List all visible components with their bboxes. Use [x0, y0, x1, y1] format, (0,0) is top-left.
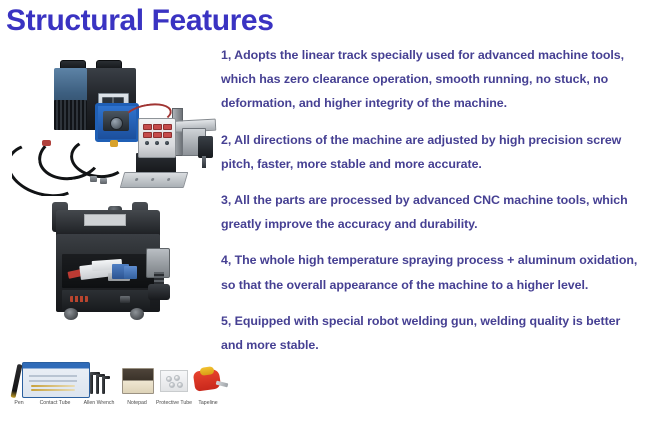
switch-1-icon	[145, 141, 149, 145]
pouch-line-2	[29, 380, 77, 382]
wire-spool-icon	[110, 117, 123, 130]
led-6-icon	[163, 132, 172, 138]
protective-tube-part-2	[174, 375, 180, 381]
carry-case-illustration	[22, 196, 207, 348]
accessory-label: Tapeline	[188, 400, 228, 407]
protective-tube-part-4	[177, 382, 183, 388]
photo-carry-case	[22, 196, 207, 348]
welding-torch-head	[198, 136, 213, 158]
cabinet-vent-grille	[54, 100, 87, 130]
case-wheel-right	[130, 308, 144, 320]
pen-icon	[11, 364, 23, 398]
led-2-icon	[153, 124, 162, 130]
allen-wrench-art	[78, 358, 120, 400]
accessory-allen-wrench: Allen Wrench	[78, 358, 120, 407]
welding-machine-illustration	[12, 48, 217, 196]
notepad-icon	[122, 368, 154, 394]
allen-wrench-icon-1	[90, 372, 93, 394]
pouch-line-1	[29, 375, 77, 377]
led-3-icon	[163, 124, 172, 130]
case-open-compartment	[62, 254, 154, 288]
machine-base-plate	[120, 172, 189, 188]
structural-features-page: Structural Features	[0, 0, 650, 433]
allen-wrench-head-3	[102, 376, 110, 379]
welding-gun-body	[148, 284, 170, 300]
protective-tube-part-3	[169, 382, 175, 388]
contact-tube-icon-2	[31, 389, 75, 391]
cable-plug-red	[42, 140, 51, 146]
loose-part-2	[100, 178, 107, 184]
feature-paragraph-5: 5, Equipped with special robot welding g…	[221, 309, 645, 357]
loose-part-1	[90, 176, 97, 182]
case-latch-icon	[120, 296, 130, 303]
accessory-tapeline: Tapeline	[188, 358, 228, 407]
base-plate-hole-3	[167, 178, 171, 181]
led-4-icon	[143, 132, 152, 138]
switch-3-icon	[165, 141, 169, 145]
led-5-icon	[153, 132, 162, 138]
welding-torch-tip	[202, 156, 206, 168]
feature-paragraph-2: 2, All directions of the machine are adj…	[221, 128, 645, 176]
accessory-label: Allen Wrench	[78, 400, 120, 407]
controller-box	[138, 118, 176, 158]
accessory-strip: Pen Contact Tube Allen	[0, 352, 215, 420]
case-lid-label	[84, 214, 126, 226]
contact-tube-icon-1	[31, 385, 75, 387]
page-title: Structural Features	[6, 4, 273, 38]
protective-tube-icon	[160, 370, 188, 392]
tapeline-art	[188, 358, 228, 400]
features-list: 1, Adopts the linear track specially use…	[221, 43, 645, 357]
photo-welding-machine	[12, 48, 217, 196]
case-content-blue-box-2	[124, 266, 137, 279]
case-wheel-left	[64, 308, 78, 320]
led-1-icon	[143, 124, 152, 130]
feature-paragraph-4: 4, The whole high temperature spraying p…	[221, 248, 645, 296]
feature-paragraph-1: 1, Adopts the linear track specially use…	[221, 43, 645, 116]
cable-plug-yellow	[110, 140, 118, 147]
base-plate-hole-2	[151, 178, 155, 181]
allen-wrench-icon-2	[96, 374, 99, 394]
drawer-indicator-icon	[70, 296, 88, 302]
feature-paragraph-3: 3, All the parts are processed by advanc…	[221, 188, 645, 236]
base-plate-hole-1	[135, 178, 139, 181]
switch-2-icon	[155, 141, 159, 145]
